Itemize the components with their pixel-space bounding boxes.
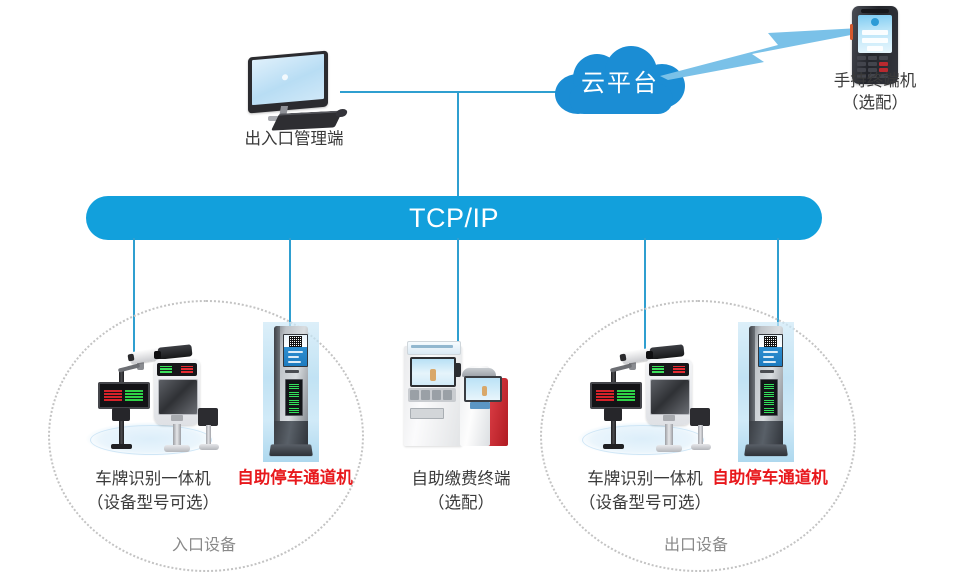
camera-arm: [118, 363, 140, 372]
pole-control-box: [604, 408, 622, 421]
qr-code-icon: [289, 336, 302, 347]
monitor-display: [252, 54, 324, 105]
kiosk-card-slot: [760, 370, 774, 373]
camera-arm: [610, 363, 632, 372]
kiosk-screen-line: [288, 356, 299, 358]
pda-screen-logo: [871, 18, 879, 26]
lpr-terminal-panel: [158, 379, 198, 415]
cloud-platform-icon: 云平台: [555, 46, 685, 114]
payment-kiosk-icon: [398, 338, 513, 450]
desktop-computer-icon: [240, 54, 348, 128]
led-red-text: [104, 389, 122, 401]
led-green-segment: [160, 366, 172, 373]
connector-backbone-riser: [457, 91, 459, 197]
lpr-terminal-base: [656, 445, 682, 452]
lpr-terminal-logo: [663, 415, 675, 421]
lpr-terminal-logo: [171, 415, 183, 421]
payment-screen: [410, 357, 456, 387]
exit-lpr-label-line2: （设备型号可选）: [555, 492, 735, 514]
kiosk-base: [269, 444, 313, 456]
sensor-post-base: [199, 444, 219, 450]
management-label: 出入口管理端: [194, 128, 394, 150]
camera-lens: [619, 354, 626, 362]
kiosk-card-slot: [285, 370, 299, 373]
payment-cash-tray: [410, 408, 444, 419]
exit-group-label: 出口设备: [636, 534, 756, 555]
connector-to-payment-terminal: [457, 238, 459, 350]
kiosk-screen-line: [288, 361, 301, 363]
lpr-terminal-led-bar: [649, 363, 689, 376]
handheld-label-line1: 手持终端机: [795, 70, 955, 92]
camera-pole-base: [603, 444, 624, 449]
lpr-terminal-panel: [650, 379, 690, 415]
led-green-text: [125, 389, 143, 401]
kiosk-screen-line: [288, 351, 303, 353]
kiosk-led-panel: [285, 379, 303, 416]
led-red-segment: [181, 366, 193, 373]
sensor-post-base: [691, 444, 711, 450]
payment-header-panel: [407, 341, 461, 355]
terminal-camera-icon: [157, 344, 192, 359]
tcpip-backbone-bar: TCP/IP: [86, 196, 822, 240]
entrance-lpr-station-icon: [78, 330, 228, 460]
led-sign-display: [98, 382, 150, 409]
camera-lens: [127, 354, 134, 362]
tcpip-label: TCP/IP: [409, 203, 499, 234]
ground-ring: [90, 425, 212, 455]
terminal-camera-lens: [646, 351, 653, 359]
exit-self-service-kiosk-icon: [738, 322, 794, 462]
payment-red-keypad: [470, 402, 490, 409]
led-red-segment: [673, 366, 685, 373]
payment-button-row: [408, 388, 456, 402]
pda-screen: [858, 15, 892, 53]
led-sign-display: [590, 382, 642, 409]
terminal-camera-icon: [649, 344, 684, 359]
handheld-label-line2: （选配）: [795, 92, 955, 114]
payment-header-text: [411, 345, 453, 348]
kiosk-screen: [283, 334, 308, 367]
kiosk-screen: [758, 334, 783, 367]
kiosk-screen-line: [763, 351, 778, 353]
ground-ring: [582, 425, 704, 455]
entrance-self-service-kiosk-icon: [263, 322, 319, 462]
network-topology-diagram: 出入口管理端 云平台: [0, 0, 979, 586]
sensor-post-head: [198, 408, 218, 426]
lpr-terminal-led-bar: [157, 363, 197, 376]
terminal-camera-lens: [154, 351, 161, 359]
connector-pc-to-cloud: [340, 91, 566, 93]
entrance-kiosk-label: 自助停车通道机: [215, 467, 375, 489]
payment-screen-figure: [430, 369, 436, 381]
cloud-platform-label: 云平台: [555, 46, 685, 114]
pda-screen-field: [862, 38, 888, 43]
lpr-terminal-base: [164, 445, 190, 452]
payment-machine-red: [460, 366, 508, 446]
entrance-lpr-label-line2: （设备型号可选）: [63, 492, 243, 514]
led-green-text: [617, 389, 635, 401]
kiosk-screen-line: [763, 356, 774, 358]
sensor-post-head: [690, 408, 710, 426]
payment-red-screen-figure: [482, 386, 487, 396]
mouse-icon: [335, 109, 349, 117]
pda-side-button: [850, 24, 853, 40]
exit-lpr-station-icon: [570, 330, 720, 460]
entrance-group-label: 入口设备: [144, 534, 264, 555]
pole-control-box: [112, 408, 130, 421]
led-red-text: [596, 389, 614, 401]
kiosk-screen-line: [763, 361, 776, 363]
qr-code-icon: [764, 336, 777, 347]
pda-screen-button: [867, 46, 883, 51]
led-green-segment: [652, 366, 664, 373]
exit-kiosk-label: 自助停车通道机: [690, 467, 850, 489]
monitor-bezel: [248, 51, 328, 114]
payment-label-line1: 自助缴费终端: [376, 468, 546, 490]
payment-red-screen: [464, 376, 502, 402]
kiosk-led-panel: [760, 379, 778, 416]
payment-label-line2: （选配）: [376, 492, 546, 514]
pda-screen-field: [862, 30, 888, 35]
pda-speaker: [861, 9, 889, 13]
camera-pole-base: [111, 444, 132, 449]
kiosk-base: [744, 444, 788, 456]
